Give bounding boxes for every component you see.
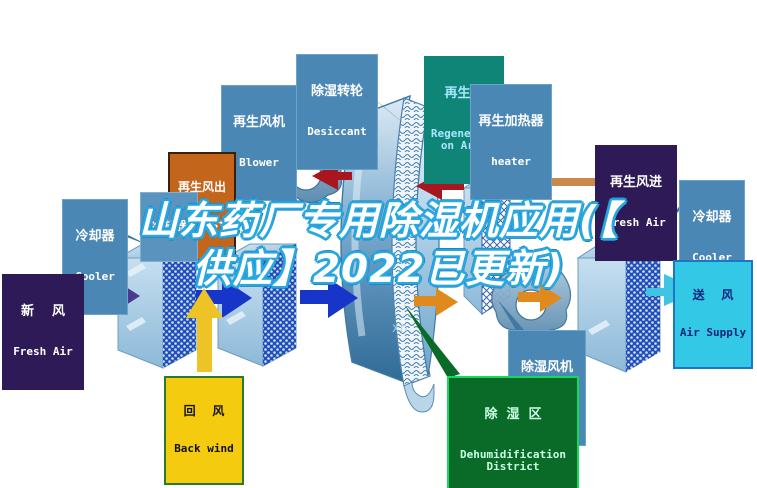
label-desiccant-rotor[interactable]: 除湿转轮 Desiccant (296, 54, 378, 170)
label-regen-fresh-air-in[interactable]: 再生风进 Fresh Air (595, 145, 677, 261)
label-fresh-air-in-cn: 新 风 (5, 305, 81, 319)
label-fresh-air-in[interactable]: 新 风 Fresh Air (2, 274, 84, 390)
label-cooler-left-a-cn: 冷却器 (65, 230, 125, 244)
label-back-wind[interactable]: 回 风 Back wind (164, 376, 244, 485)
label-desiccant-rotor-en: Desiccant (299, 126, 375, 138)
label-cooler-left-b[interactable]: 冷却器 (140, 192, 198, 262)
label-regen-heater-en: heater (473, 156, 549, 168)
diagram-canvas: xn (0, 0, 757, 488)
label-dehumidification-district-cn: 除 湿 区 (451, 408, 575, 422)
label-air-supply-cn: 送 风 (677, 289, 749, 302)
label-air-supply-en: Air Supply (677, 327, 749, 339)
label-regen-fresh-air-in-en: Fresh Air (598, 217, 674, 229)
label-cooler-left-b-cn: 冷却器 (143, 220, 195, 233)
label-dehumidification-district[interactable]: 除 湿 区 Dehumidification District (447, 376, 579, 488)
label-regen-heater[interactable]: 再生加热器 heater (470, 84, 552, 200)
label-air-supply[interactable]: 送 风 Air Supply (673, 260, 753, 369)
label-regen-fresh-air-in-cn: 再生风进 (598, 176, 674, 190)
label-cooler-right-cn: 冷却器 (682, 211, 742, 225)
label-dehumidification-district-en: Dehumidification District (451, 449, 575, 472)
label-dehumid-blower-cn: 除湿风机 (511, 361, 583, 375)
label-back-wind-cn: 回 风 (168, 405, 240, 418)
label-fresh-air-in-en: Fresh Air (5, 346, 81, 358)
label-regen-heater-cn: 再生加热器 (473, 115, 549, 129)
label-regen-blower-cn: 再生风机 (224, 116, 294, 130)
tail-dehumid-blower (498, 300, 524, 330)
label-back-wind-en: Back wind (168, 443, 240, 455)
label-desiccant-rotor-cn: 除湿转轮 (299, 85, 375, 99)
tail-dehumid-area (404, 304, 460, 378)
